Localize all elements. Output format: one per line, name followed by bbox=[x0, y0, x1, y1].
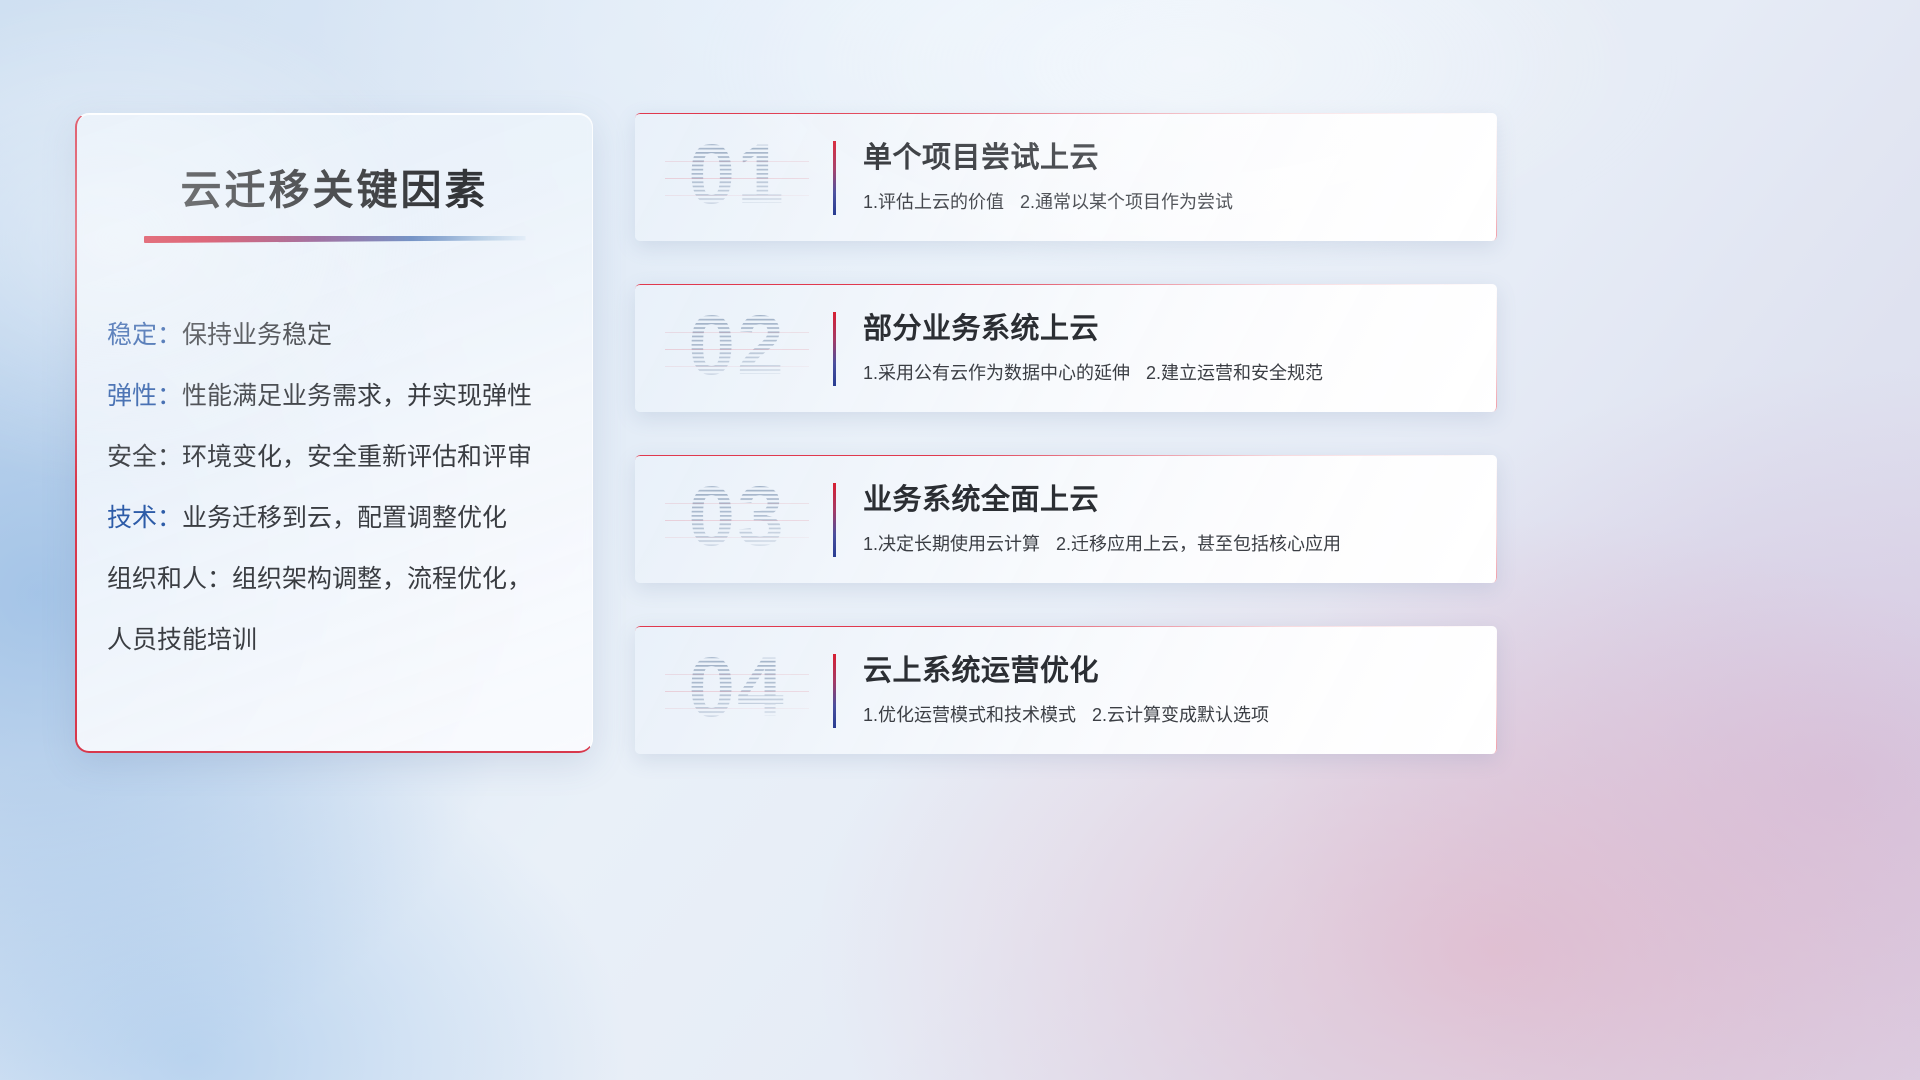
key-factor-label: 技术： bbox=[107, 504, 182, 532]
stage-card-body: 单个项目尝试上云1.评估上云的价值2.通常以某个项目作为尝试 bbox=[863, 139, 1475, 214]
key-factor-text: 环境变化，安全重新评估和评审 bbox=[182, 443, 532, 471]
slide-root: 云迁移关键因素 稳定：保持业务稳定弹性：性能满足业务需求，并实现弹性安全：环境变… bbox=[0, 0, 1920, 1080]
key-factor-label: 安全： bbox=[107, 443, 182, 471]
key-factor-text: 保持业务稳定 bbox=[182, 321, 332, 349]
key-factor-text: 组织架构调整，流程优化， bbox=[232, 565, 532, 593]
svg-text:04: 04 bbox=[688, 644, 785, 734]
stage-card-body: 业务系统全面上云1.决定长期使用云计算2.迁移应用上云，甚至包括核心应用 bbox=[863, 481, 1475, 556]
stage-detail-part: 2.迁移应用上云，甚至包括核心应用 bbox=[1056, 534, 1341, 554]
key-factor-row: 稳定：保持业务稳定 bbox=[107, 305, 577, 366]
stage-accent-bar bbox=[833, 483, 836, 557]
page-title: 云迁移关键因素 bbox=[77, 156, 592, 216]
stage-number-watermark: 01 bbox=[657, 131, 817, 223]
stage-card-title: 单个项目尝试上云 bbox=[863, 139, 1475, 177]
stage-accent-bar bbox=[833, 141, 836, 215]
stage-card-title: 云上系统运营优化 bbox=[863, 652, 1475, 690]
key-factors-list: 稳定：保持业务稳定弹性：性能满足业务需求，并实现弹性安全：环境变化，安全重新评估… bbox=[107, 305, 577, 671]
stage-detail-part: 2.通常以某个项目作为尝试 bbox=[1020, 192, 1233, 212]
stage-detail-part: 1.采用公有云作为数据中心的延伸 bbox=[863, 363, 1130, 383]
key-factor-text: 业务迁移到云，配置调整优化 bbox=[182, 504, 507, 532]
stage-card-title: 业务系统全面上云 bbox=[863, 481, 1475, 519]
stage-card-body: 云上系统运营优化1.优化运营模式和技术模式2.云计算变成默认选项 bbox=[863, 652, 1475, 727]
stage-card-detail: 1.采用公有云作为数据中心的延伸2.建立运营和安全规范 bbox=[863, 361, 1475, 385]
stage-card[interactable]: 02部分业务系统上云1.采用公有云作为数据中心的延伸2.建立运营和安全规范 bbox=[635, 284, 1497, 412]
stage-card-detail: 1.评估上云的价值2.通常以某个项目作为尝试 bbox=[863, 190, 1475, 214]
stage-accent-bar bbox=[833, 312, 836, 386]
stage-accent-bar bbox=[833, 654, 836, 728]
svg-text:01: 01 bbox=[688, 131, 785, 221]
stage-card-detail: 1.决定长期使用云计算2.迁移应用上云，甚至包括核心应用 bbox=[863, 532, 1475, 556]
key-factor-row: 弹性：性能满足业务需求，并实现弹性 bbox=[107, 366, 577, 427]
stage-card-detail: 1.优化运营模式和技术模式2.云计算变成默认选项 bbox=[863, 703, 1475, 727]
key-factor-label: 组织和人： bbox=[107, 565, 232, 593]
key-factors-panel: 云迁移关键因素 稳定：保持业务稳定弹性：性能满足业务需求，并实现弹性安全：环境变… bbox=[75, 113, 593, 753]
key-factor-label: 稳定： bbox=[107, 321, 182, 349]
stage-detail-part: 1.评估上云的价值 bbox=[863, 192, 1004, 212]
stage-detail-part: 1.决定长期使用云计算 bbox=[863, 534, 1040, 554]
key-factor-text: 人员技能培训 bbox=[107, 626, 257, 654]
stage-card-body: 部分业务系统上云1.采用公有云作为数据中心的延伸2.建立运营和安全规范 bbox=[863, 310, 1475, 385]
key-factor-text: 性能满足业务需求，并实现弹性 bbox=[182, 382, 532, 410]
stage-card[interactable]: 03业务系统全面上云1.决定长期使用云计算2.迁移应用上云，甚至包括核心应用 bbox=[635, 455, 1497, 583]
svg-text:02: 02 bbox=[688, 302, 785, 392]
title-underline-rule bbox=[144, 236, 526, 243]
stage-card[interactable]: 04云上系统运营优化1.优化运营模式和技术模式2.云计算变成默认选项 bbox=[635, 626, 1497, 754]
key-factor-row: 人员技能培训 bbox=[107, 610, 577, 671]
key-factor-row: 技术：业务迁移到云，配置调整优化 bbox=[107, 488, 577, 549]
stage-detail-part: 2.建立运营和安全规范 bbox=[1146, 363, 1323, 383]
stage-card[interactable]: 01单个项目尝试上云1.评估上云的价值2.通常以某个项目作为尝试 bbox=[635, 113, 1497, 241]
key-factor-label: 弹性： bbox=[107, 382, 182, 410]
stage-number-watermark: 02 bbox=[657, 302, 817, 394]
stage-card-list: 01单个项目尝试上云1.评估上云的价值2.通常以某个项目作为尝试02部分业务系统… bbox=[635, 113, 1497, 754]
stage-number-watermark: 03 bbox=[657, 473, 817, 565]
key-factor-row: 组织和人：组织架构调整，流程优化， bbox=[107, 549, 577, 610]
key-factor-row: 安全：环境变化，安全重新评估和评审 bbox=[107, 427, 577, 488]
stage-detail-part: 2.云计算变成默认选项 bbox=[1092, 705, 1269, 725]
stage-number-watermark: 04 bbox=[657, 644, 817, 736]
stage-card-title: 部分业务系统上云 bbox=[863, 310, 1475, 348]
svg-text:03: 03 bbox=[688, 473, 785, 563]
stage-detail-part: 1.优化运营模式和技术模式 bbox=[863, 705, 1076, 725]
